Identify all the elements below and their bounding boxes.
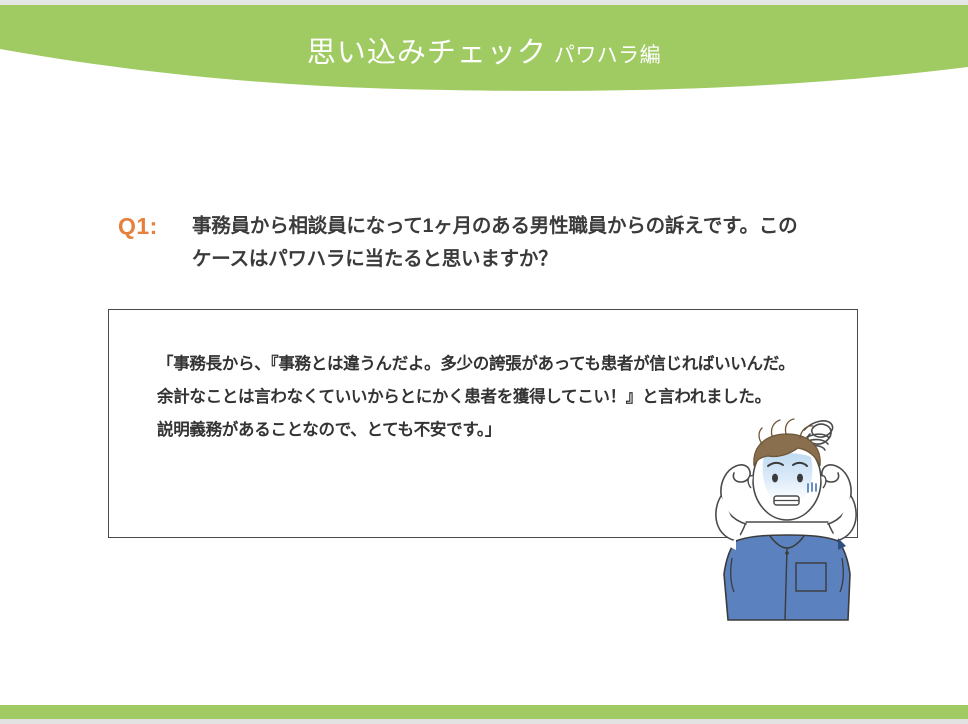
- question-text-line: ケースはパワハラに当たると思いますか？: [192, 243, 872, 276]
- question-number-label: Q1:: [118, 213, 158, 240]
- header-banner: [0, 5, 968, 93]
- quote-text-line: 「事務長から、『事務とは違うんだよ。多少の誇張があっても患者が信じればいいんだ。: [157, 348, 847, 381]
- question-text: 事務員から相談員になって1ヶ月のある男性職員からの訴えです。この ケースはパワハ…: [192, 210, 872, 276]
- question-text-line: 事務員から相談員になって1ヶ月のある男性職員からの訴えです。この: [192, 210, 872, 243]
- bottom-gray-strip: [0, 719, 968, 724]
- slide-canvas: 思い込みチェックパワハラ編 Q1: 事務員から相談員になって1ヶ月のある男性職員…: [0, 0, 968, 724]
- worried-man-illustration: [688, 408, 878, 623]
- bottom-green-bar: [0, 705, 968, 719]
